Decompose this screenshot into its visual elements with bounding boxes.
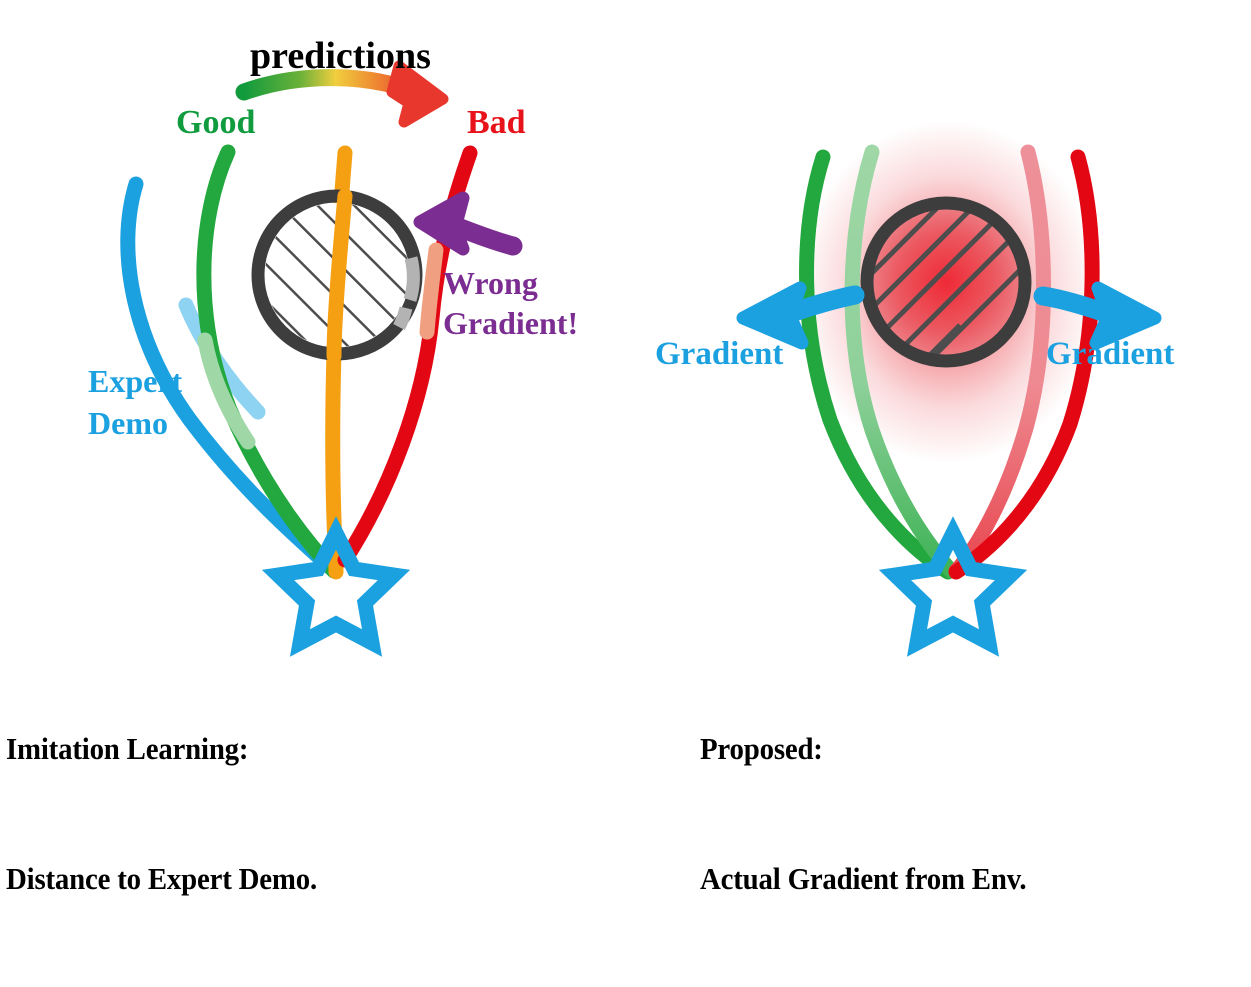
gradient-label-right: Gradient [1046,336,1174,372]
good-label: Good [176,104,255,141]
right-caption-line1: Proposed: [700,727,1026,770]
star-goal-marker [278,533,394,643]
left-caption-line1: Imitation Learning: [6,727,317,770]
bad-label: Bad [467,104,526,141]
wrong-gradient-arrow [420,198,513,249]
figure-root: predictions Good Bad Expert Demo Wrong G… [0,0,1251,759]
wrong-gradient-label-line1: Wrong [443,265,538,301]
right-caption-line2: Actual Gradient from Env. [700,857,1026,900]
expert-demo-label-line2: Demo [88,405,168,441]
wrong-gradient-label-line2: Gradient! [443,305,578,341]
right-panel-caption: Proposed: Actual Gradient from Env. [700,640,1026,987]
left-panel-graphics [128,66,513,643]
left-caption-line2: Distance to Expert Demo. [6,857,317,900]
expert-demo-label-line1: Expert [88,363,183,399]
predictions-label: predictions [250,35,431,77]
right-panel-graphics [743,105,1155,643]
gradient-label-left: Gradient [655,336,783,372]
left-panel-caption: Imitation Learning: Distance to Expert D… [6,640,317,987]
